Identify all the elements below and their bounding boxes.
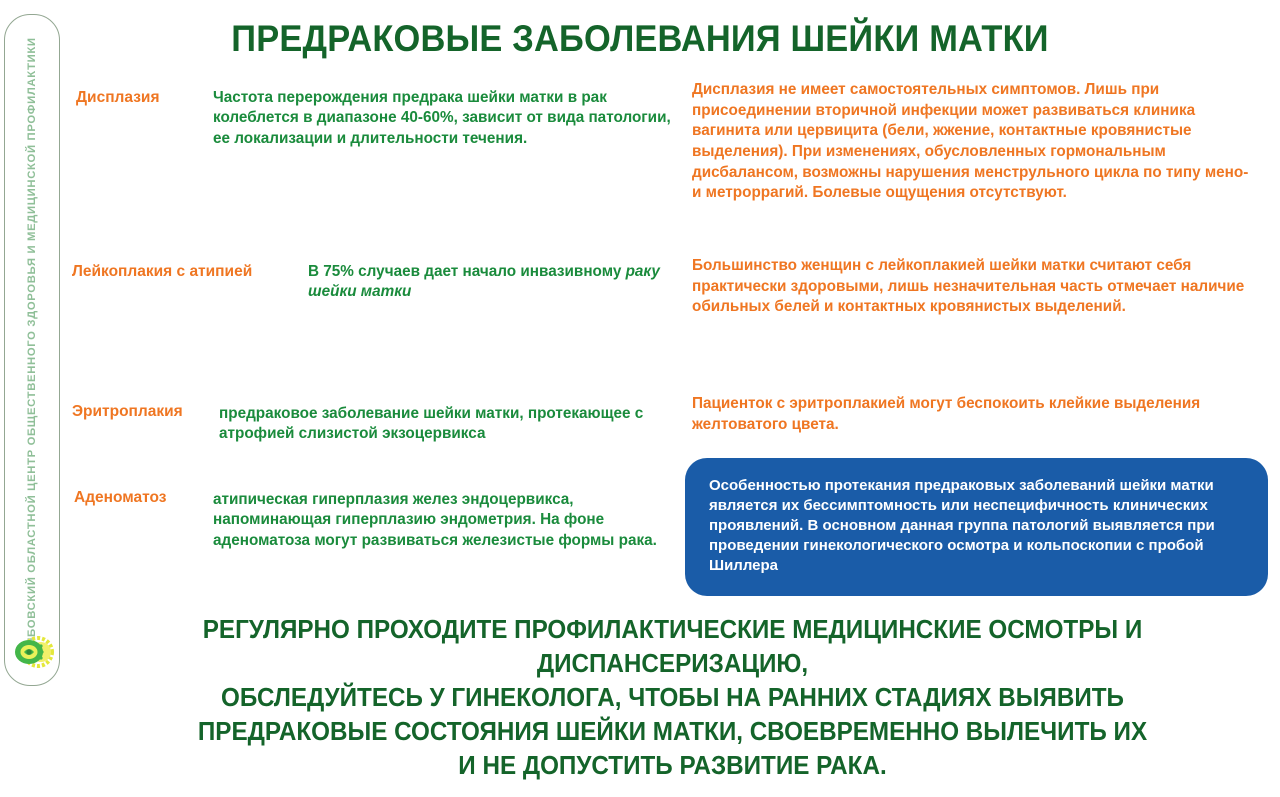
symptoms-dysplasia: Дисплазия не имеет самостоятельных симпт…: [692, 80, 1260, 204]
key-message-callout: Особенностью протекания предраковых забо…: [685, 458, 1268, 596]
key-message-text: Особенностью протекания предраковых забо…: [709, 476, 1246, 576]
definition-leukoplakia: В 75% случаев дает начало инвазивному ра…: [308, 262, 688, 303]
definition-adenomatosis: атипическая гиперплазия желез эндоцервик…: [213, 490, 683, 551]
cta-line-1: РЕГУЛЯРНО ПРОХОДИТЕ ПРОФИЛАКТИЧЕСКИЕ МЕД…: [100, 614, 1245, 682]
term-dysplasia: Дисплазия: [76, 88, 160, 107]
center-emblem-icon: [11, 631, 57, 673]
definition-dysplasia: Частота перерождения предрака шейки матк…: [213, 88, 683, 149]
cta-line-3: ПРЕДРАКОВЫЕ СОСТОЯНИЯ ШЕЙКИ МАТКИ, СВОЕВ…: [100, 716, 1245, 750]
organization-vertical-label: ТАМБОВСКИЙ ОБЛАСТНОЙ ЦЕНТР ОБЩЕСТВЕННОГО…: [26, 37, 38, 662]
cta-line-4: И НЕ ДОПУСТИТЬ РАЗВИТИЕ РАКА.: [100, 750, 1245, 784]
page-title: ПРЕДРАКОВЫЕ ЗАБОЛЕВАНИЯ ШЕЙКИ МАТКИ: [184, 18, 1095, 60]
symptoms-erythroplakia: Пациенток с эритроплакией могут беспокои…: [692, 394, 1260, 435]
branding-sidebar: ТАМБОВСКИЙ ОБЛАСТНОЙ ЦЕНТР ОБЩЕСТВЕННОГО…: [4, 14, 60, 686]
term-leukoplakia: Лейкоплакия с атипией: [72, 262, 252, 281]
slide-root: ТАМБОВСКИЙ ОБЛАСТНОЙ ЦЕНТР ОБЩЕСТВЕННОГО…: [0, 0, 1280, 797]
definition-leukoplakia-text: В 75% случаев дает начало инвазивному: [308, 263, 626, 280]
term-adenomatosis: Аденоматоз: [74, 488, 167, 507]
symptoms-leukoplakia: Большинство женщин с лейкоплакией шейки …: [692, 256, 1260, 318]
cta-line-2: ОБСЛЕДУЙТЕСЬ У ГИНЕКОЛОГА, ЧТОБЫ НА РАНН…: [100, 682, 1245, 716]
term-erythroplakia: Эритроплакия: [72, 402, 183, 421]
definition-erythroplakia: предраковое заболевание шейки матки, про…: [219, 404, 679, 445]
call-to-action: РЕГУЛЯРНО ПРОХОДИТЕ ПРОФИЛАКТИЧЕСКИЕ МЕД…: [70, 614, 1275, 784]
